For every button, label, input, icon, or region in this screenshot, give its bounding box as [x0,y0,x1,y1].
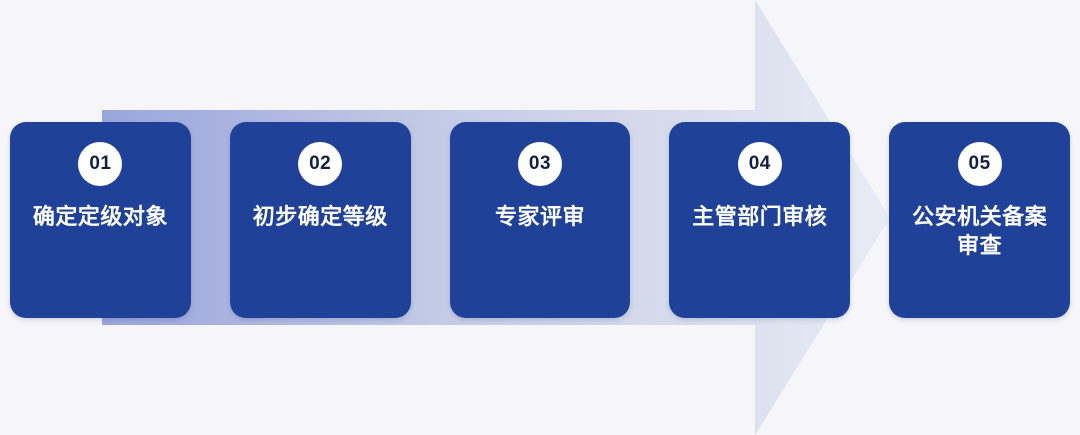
step-card-01[interactable]: 01 确定定级对象 [10,122,191,318]
step-card-list: 01 确定定级对象 02 初步确定等级 03 专家评审 04 主管部门审核 05… [10,122,1070,318]
step-number-badge: 01 [78,142,122,186]
step-label: 初步确定等级 [230,203,411,232]
step-card-02[interactable]: 02 初步确定等级 [230,122,411,318]
step-number-badge: 03 [518,142,562,186]
step-label: 主管部门审核 [669,203,850,232]
step-number-badge: 04 [738,142,782,186]
process-flow-diagram: 01 确定定级对象 02 初步确定等级 03 专家评审 04 主管部门审核 05… [0,0,1080,435]
step-label: 专家评审 [450,203,631,232]
step-card-04[interactable]: 04 主管部门审核 [669,122,850,318]
step-number-badge: 05 [958,142,1002,186]
step-card-05[interactable]: 05 公安机关备案 审查 [889,122,1070,318]
step-label: 公安机关备案 审查 [889,203,1070,260]
step-number-badge: 02 [298,142,342,186]
step-card-03[interactable]: 03 专家评审 [450,122,631,318]
step-label: 确定定级对象 [10,203,191,232]
